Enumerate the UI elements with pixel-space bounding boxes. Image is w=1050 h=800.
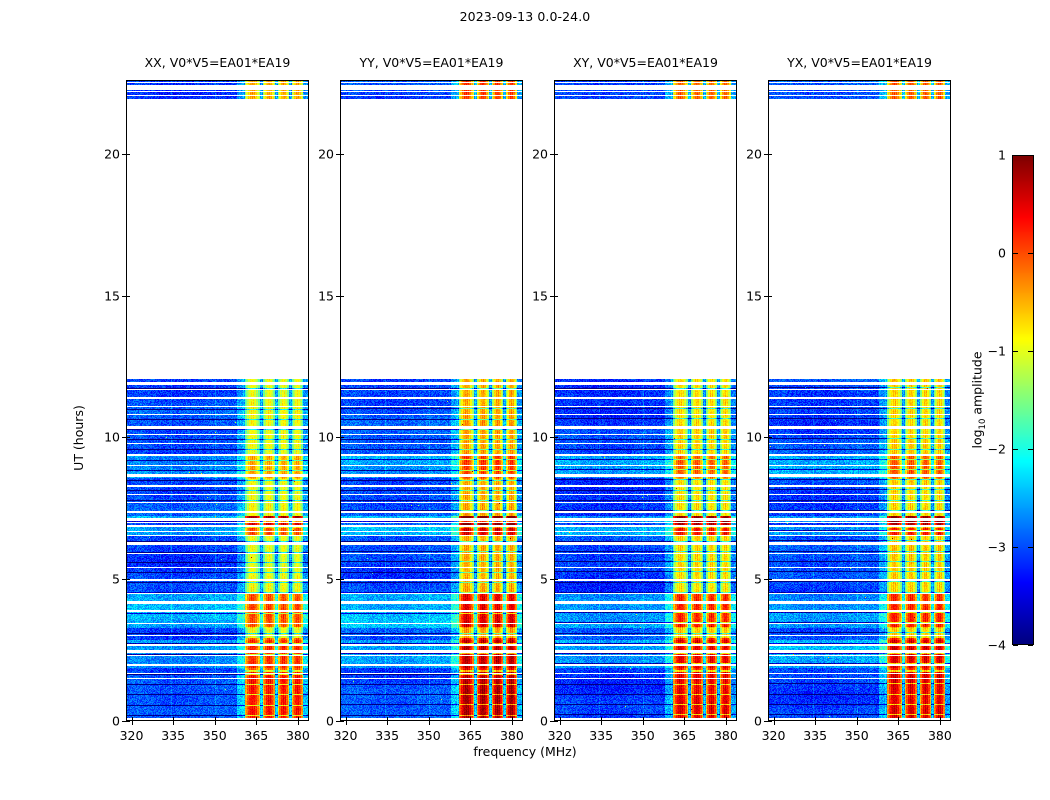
x-tick-mark-inner bbox=[132, 717, 133, 721]
x-tick-mark bbox=[132, 721, 133, 725]
y-tick-label: 20 bbox=[318, 146, 334, 161]
x-tick-mark-inner bbox=[560, 717, 561, 721]
panel-title-xy: XY, V0*V5=EA01*EA19 bbox=[573, 55, 718, 70]
x-tick-mark-inner bbox=[470, 717, 471, 721]
x-tick-mark bbox=[173, 721, 174, 725]
y-tick-label: 5 bbox=[540, 572, 548, 587]
x-tick-label: 350 bbox=[631, 728, 655, 743]
x-tick-mark bbox=[643, 721, 644, 725]
x-tick-mark-inner bbox=[256, 717, 257, 721]
waterfall-axes-yy[interactable] bbox=[340, 80, 523, 721]
x-tick-mark bbox=[298, 721, 299, 725]
waterfall-axes-xx[interactable] bbox=[126, 80, 309, 721]
y-tick-label: 20 bbox=[532, 146, 548, 161]
x-tick-mark bbox=[429, 721, 430, 725]
x-tick-mark bbox=[940, 721, 941, 725]
x-tick-label: 365 bbox=[886, 728, 910, 743]
x-tick-mark bbox=[898, 721, 899, 725]
panel-title-xx: XX, V0*V5=EA01*EA19 bbox=[145, 55, 291, 70]
y-tick-mark-inner bbox=[768, 154, 772, 155]
x-tick-label: 365 bbox=[458, 728, 482, 743]
waterfall-axes-xy[interactable] bbox=[554, 80, 737, 721]
y-tick-mark-inner bbox=[126, 579, 130, 580]
x-tick-mark-inner bbox=[429, 717, 430, 721]
x-tick-mark-inner bbox=[643, 717, 644, 721]
x-tick-label: 335 bbox=[161, 728, 185, 743]
panel-title-yy: YY, V0*V5=EA01*EA19 bbox=[360, 55, 504, 70]
x-tick-mark bbox=[774, 721, 775, 725]
x-tick-mark-inner bbox=[940, 717, 941, 721]
colorbar-label-subscript: 10 bbox=[978, 419, 988, 430]
colorbar-tick-mark bbox=[1028, 449, 1033, 450]
panel-yy[interactable]: YY, V0*V5=EA01*EA19051015203203353503653… bbox=[340, 80, 523, 721]
colorbar-tick-label: −1 bbox=[988, 344, 1006, 359]
colorbar-label-text: log bbox=[970, 429, 985, 448]
x-tick-label: 380 bbox=[928, 728, 952, 743]
y-tick-mark-inner bbox=[554, 579, 558, 580]
y-tick-mark-inner bbox=[768, 437, 772, 438]
colorbar-tick-mark bbox=[1013, 253, 1018, 254]
panel-title-yx: YX, V0*V5=EA01*EA19 bbox=[787, 55, 932, 70]
x-tick-mark bbox=[601, 721, 602, 725]
x-tick-mark bbox=[346, 721, 347, 725]
waterfall-image-yx bbox=[769, 81, 951, 721]
y-tick-mark-inner bbox=[340, 721, 344, 722]
y-tick-mark-inner bbox=[554, 296, 558, 297]
y-tick-mark-inner bbox=[554, 154, 558, 155]
colorbar-tick-label: −3 bbox=[988, 540, 1006, 555]
y-tick-mark-inner bbox=[554, 437, 558, 438]
panel-xx[interactable]: XX, V0*V5=EA01*EA19051015203203353503653… bbox=[126, 80, 309, 721]
y-tick-mark-inner bbox=[768, 296, 772, 297]
colorbar-label: log10 amplitude bbox=[970, 351, 989, 448]
x-tick-mark bbox=[815, 721, 816, 725]
x-tick-mark bbox=[215, 721, 216, 725]
colorbar-gradient bbox=[1013, 156, 1033, 644]
y-tick-mark-inner bbox=[126, 296, 130, 297]
x-tick-mark-inner bbox=[857, 717, 858, 721]
x-tick-mark bbox=[387, 721, 388, 725]
x-tick-mark-inner bbox=[512, 717, 513, 721]
x-tick-mark-inner bbox=[387, 717, 388, 721]
waterfall-image-yy bbox=[341, 81, 523, 721]
x-tick-mark-inner bbox=[215, 717, 216, 721]
y-tick-label: 5 bbox=[112, 572, 120, 587]
y-tick-label: 5 bbox=[326, 572, 334, 587]
colorbar-tick-mark bbox=[1013, 645, 1018, 646]
y-tick-label: 15 bbox=[746, 288, 762, 303]
x-tick-mark-inner bbox=[346, 717, 347, 721]
y-tick-label: 15 bbox=[532, 288, 548, 303]
y-tick-mark-inner bbox=[768, 721, 772, 722]
y-tick-mark-inner bbox=[126, 154, 130, 155]
x-tick-label: 320 bbox=[548, 728, 572, 743]
colorbar-label-suffix: amplitude bbox=[970, 351, 985, 418]
x-tick-label: 380 bbox=[500, 728, 524, 743]
y-tick-mark-inner bbox=[340, 579, 344, 580]
y-tick-label: 0 bbox=[112, 714, 120, 729]
x-tick-mark bbox=[256, 721, 257, 725]
x-tick-label: 335 bbox=[803, 728, 827, 743]
x-tick-mark bbox=[726, 721, 727, 725]
y-tick-mark-inner bbox=[126, 721, 130, 722]
colorbar-tick-label: 1 bbox=[998, 148, 1006, 163]
x-tick-mark-inner bbox=[815, 717, 816, 721]
x-tick-mark-inner bbox=[601, 717, 602, 721]
panel-xy[interactable]: XY, V0*V5=EA01*EA19051015203203353503653… bbox=[554, 80, 737, 721]
x-tick-label: 380 bbox=[286, 728, 310, 743]
x-tick-mark bbox=[857, 721, 858, 725]
x-tick-label: 320 bbox=[120, 728, 144, 743]
x-tick-mark bbox=[560, 721, 561, 725]
x-tick-label: 350 bbox=[845, 728, 869, 743]
y-tick-label: 10 bbox=[532, 430, 548, 445]
x-tick-label: 335 bbox=[589, 728, 613, 743]
figure-suptitle: 2023-09-13 0.0-24.0 bbox=[0, 9, 1050, 24]
waterfall-axes-yx[interactable] bbox=[768, 80, 951, 721]
y-tick-label: 20 bbox=[746, 146, 762, 161]
y-tick-label: 0 bbox=[754, 714, 762, 729]
y-tick-label: 10 bbox=[746, 430, 762, 445]
y-tick-mark-inner bbox=[554, 721, 558, 722]
y-tick-label: 0 bbox=[540, 714, 548, 729]
x-tick-mark-inner bbox=[898, 717, 899, 721]
y-axis-label: UT (hours) bbox=[71, 405, 86, 471]
y-tick-label: 0 bbox=[326, 714, 334, 729]
x-tick-label: 365 bbox=[672, 728, 696, 743]
x-tick-mark bbox=[512, 721, 513, 725]
colorbar-tick-mark bbox=[1013, 547, 1018, 548]
y-tick-mark-inner bbox=[340, 296, 344, 297]
y-tick-label: 20 bbox=[104, 146, 120, 161]
colorbar-tick-mark bbox=[1013, 449, 1018, 450]
figure-canvas: 2023-09-13 0.0-24.0 XX, V0*V5=EA01*EA190… bbox=[0, 0, 1050, 800]
y-tick-mark-inner bbox=[768, 579, 772, 580]
colorbar-tick-mark bbox=[1013, 155, 1018, 156]
panel-yx[interactable]: YX, V0*V5=EA01*EA19051015203203353503653… bbox=[768, 80, 951, 721]
colorbar-tick-mark bbox=[1028, 155, 1033, 156]
y-tick-label: 5 bbox=[754, 572, 762, 587]
colorbar-tick-mark bbox=[1028, 351, 1033, 352]
x-axis-label: frequency (MHz) bbox=[0, 744, 1050, 759]
colorbar-tick-mark bbox=[1028, 253, 1033, 254]
y-tick-mark-inner bbox=[340, 437, 344, 438]
x-tick-label: 320 bbox=[762, 728, 786, 743]
x-tick-label: 320 bbox=[334, 728, 358, 743]
colorbar-tick-mark bbox=[1028, 547, 1033, 548]
x-tick-label: 365 bbox=[244, 728, 268, 743]
x-tick-mark-inner bbox=[684, 717, 685, 721]
x-tick-mark bbox=[684, 721, 685, 725]
colorbar-tick-label: −2 bbox=[988, 442, 1006, 457]
x-tick-label: 335 bbox=[375, 728, 399, 743]
y-tick-mark-inner bbox=[126, 437, 130, 438]
colorbar[interactable] bbox=[1012, 155, 1034, 645]
x-tick-mark-inner bbox=[173, 717, 174, 721]
x-tick-mark-inner bbox=[726, 717, 727, 721]
colorbar-tick-label: 0 bbox=[998, 246, 1006, 261]
y-tick-label: 10 bbox=[318, 430, 334, 445]
x-tick-mark bbox=[470, 721, 471, 725]
x-tick-label: 350 bbox=[417, 728, 441, 743]
x-tick-label: 350 bbox=[203, 728, 227, 743]
waterfall-image-xx bbox=[127, 81, 309, 721]
y-tick-label: 10 bbox=[104, 430, 120, 445]
colorbar-tick-label: −4 bbox=[988, 638, 1006, 653]
y-tick-label: 15 bbox=[318, 288, 334, 303]
colorbar-tick-mark bbox=[1013, 351, 1018, 352]
x-tick-mark-inner bbox=[774, 717, 775, 721]
y-tick-label: 15 bbox=[104, 288, 120, 303]
waterfall-image-xy bbox=[555, 81, 737, 721]
x-tick-mark-inner bbox=[298, 717, 299, 721]
x-tick-label: 380 bbox=[714, 728, 738, 743]
colorbar-tick-mark bbox=[1028, 645, 1033, 646]
y-tick-mark-inner bbox=[340, 154, 344, 155]
